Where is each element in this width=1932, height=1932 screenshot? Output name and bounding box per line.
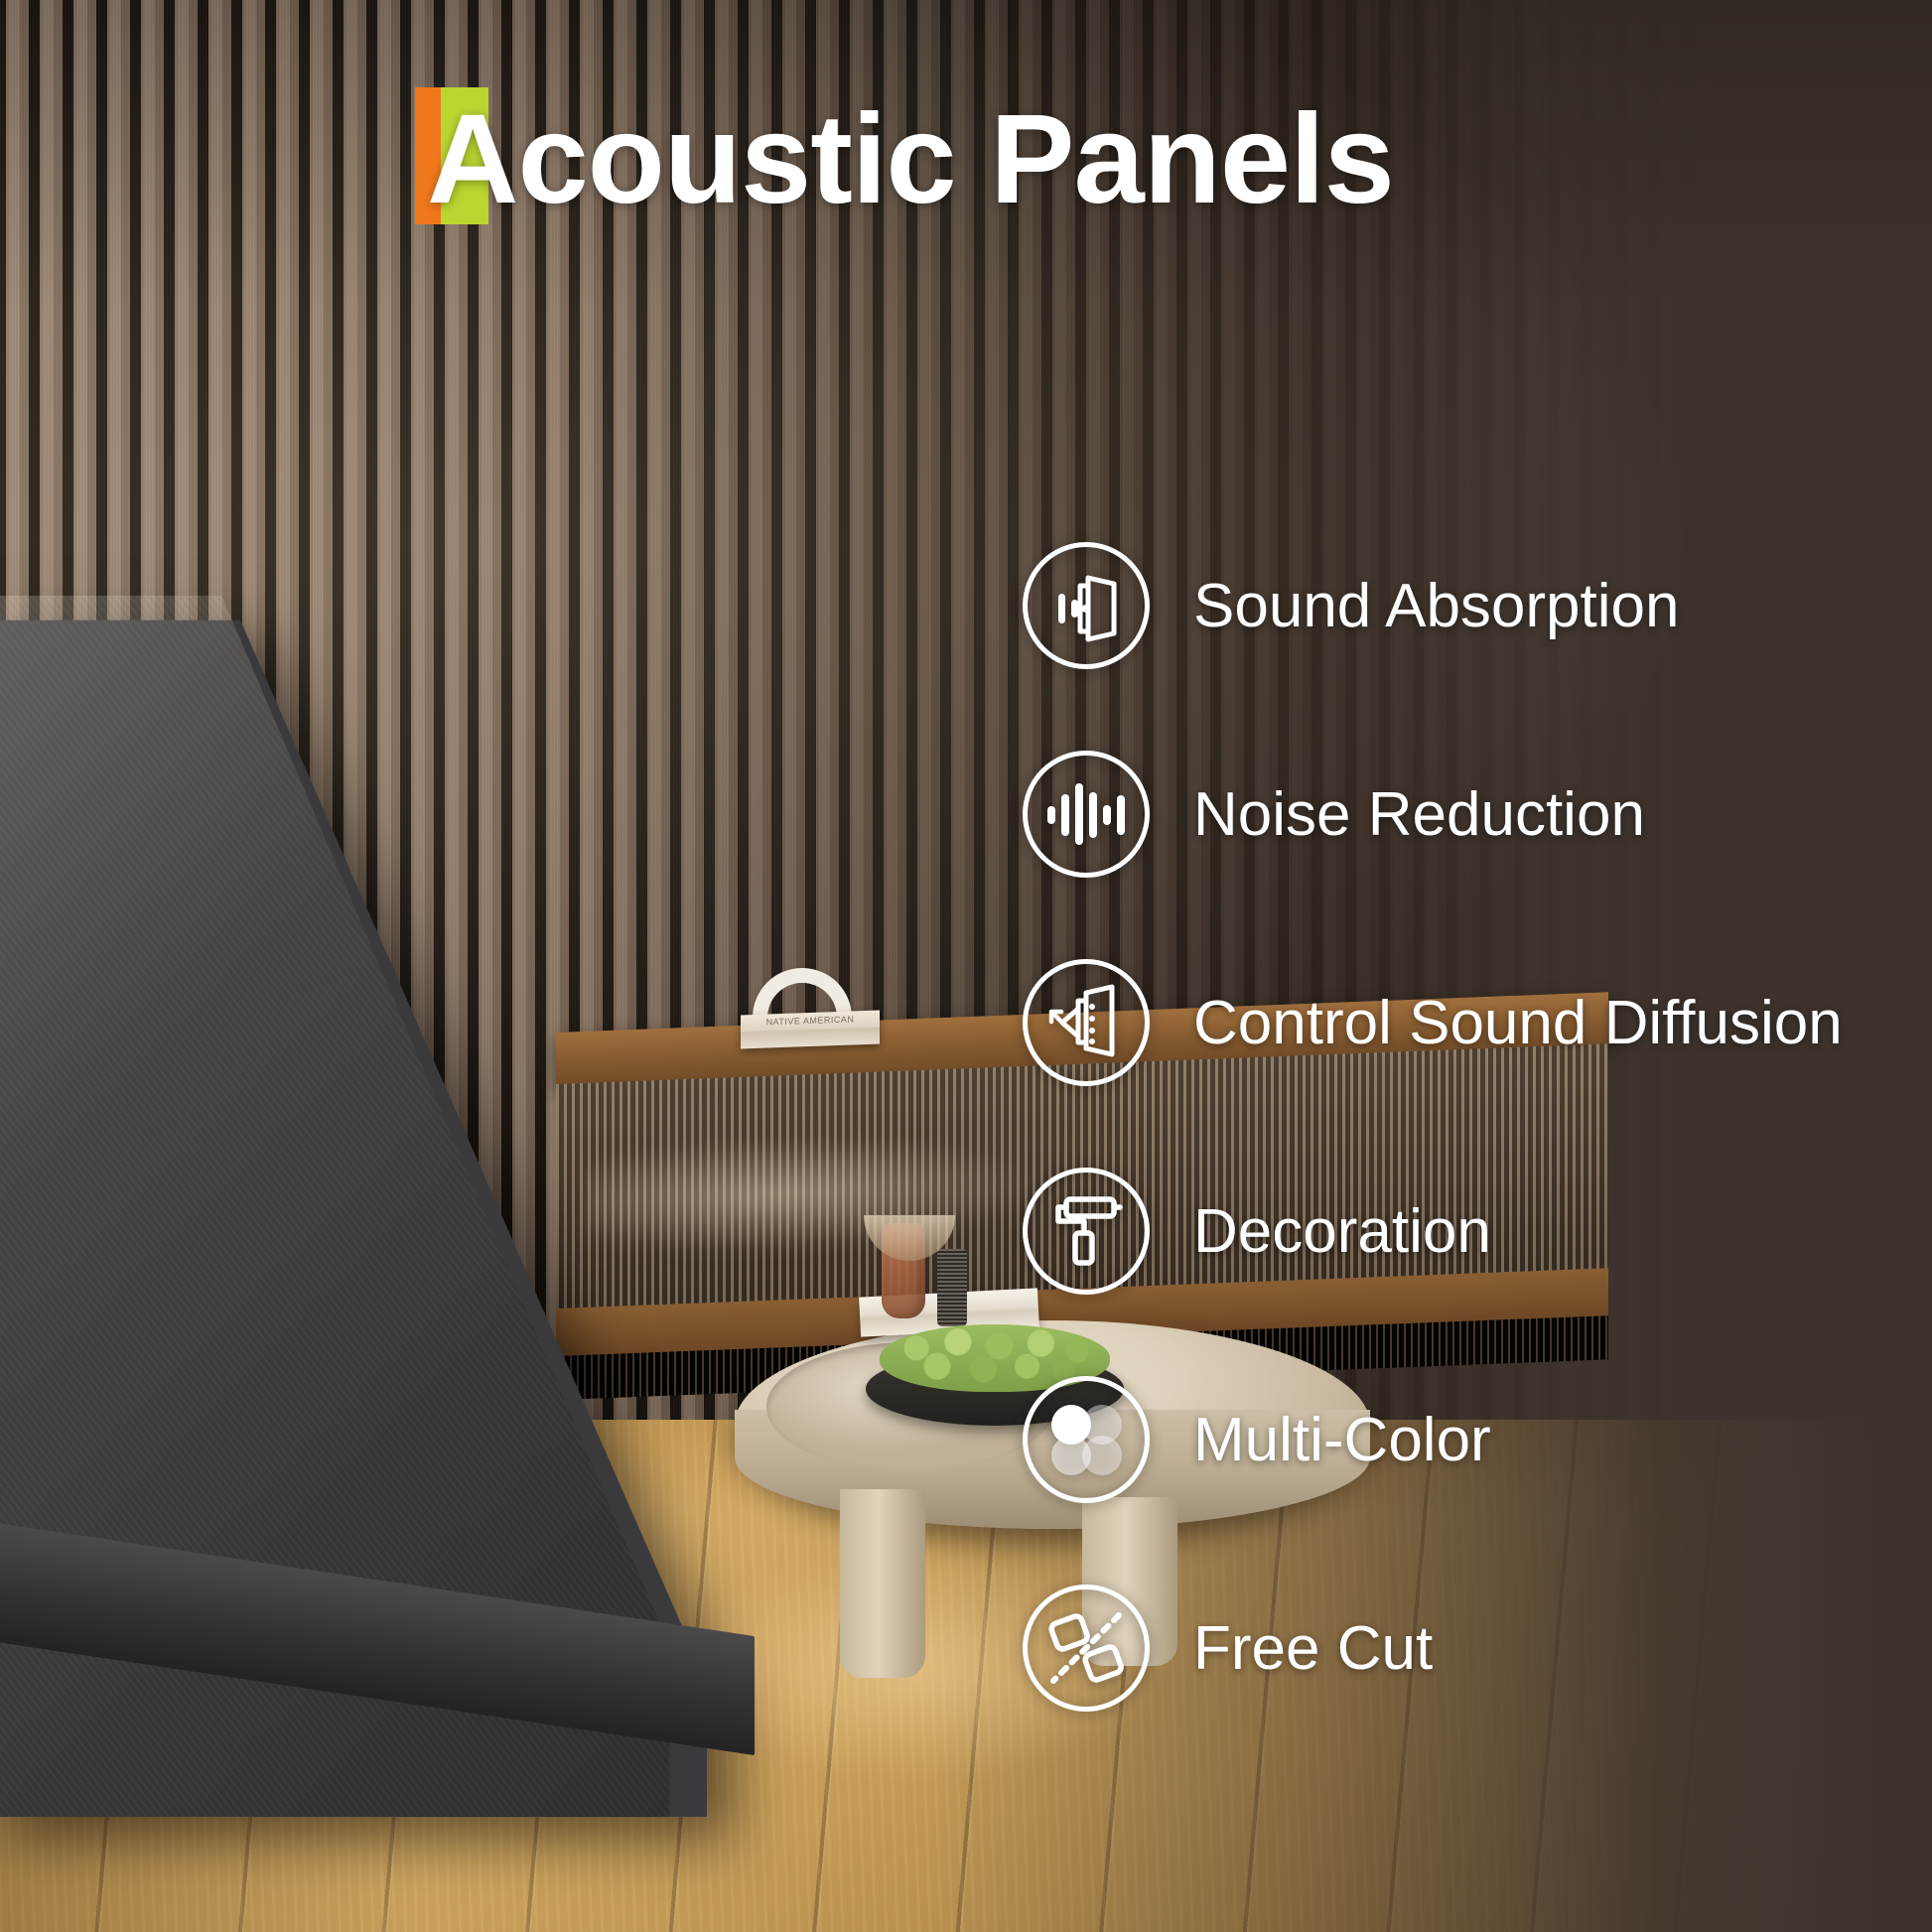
free-cut-icon bbox=[1023, 1585, 1150, 1712]
noise-reduction-icon bbox=[1023, 751, 1150, 878]
feature-item-multi-color[interactable]: Multi-Color bbox=[1023, 1335, 1916, 1544]
feature-label: Control Sound Diffusion bbox=[1193, 988, 1843, 1058]
feature-label: Noise Reduction bbox=[1193, 779, 1645, 850]
page-title: Acoustic Panels bbox=[427, 85, 1394, 234]
sound-absorption-icon bbox=[1023, 542, 1150, 669]
feature-item-sound-diffusion[interactable]: Control Sound Diffusion bbox=[1023, 918, 1916, 1127]
feature-item-sound-absorption[interactable]: Sound Absorption bbox=[1023, 501, 1916, 710]
feature-label: Multi-Color bbox=[1193, 1405, 1491, 1475]
product-infographic: NATIVE AMERICAN Acoustic Panels bbox=[0, 0, 1932, 1932]
feature-list: Sound Absorption Noise Reduction bbox=[1023, 501, 1916, 1752]
feature-label: Free Cut bbox=[1193, 1613, 1433, 1684]
feature-item-decoration[interactable]: Decoration bbox=[1023, 1127, 1916, 1335]
feature-item-free-cut[interactable]: Free Cut bbox=[1023, 1544, 1916, 1752]
sound-diffusion-icon bbox=[1023, 959, 1150, 1086]
color-swatches-icon bbox=[1023, 1376, 1150, 1503]
pepper-grinder bbox=[937, 1249, 967, 1326]
feature-label: Decoration bbox=[1193, 1196, 1491, 1267]
feature-label: Sound Absorption bbox=[1193, 571, 1680, 641]
feature-item-noise-reduction[interactable]: Noise Reduction bbox=[1023, 710, 1916, 918]
paint-roller-icon bbox=[1023, 1168, 1150, 1295]
